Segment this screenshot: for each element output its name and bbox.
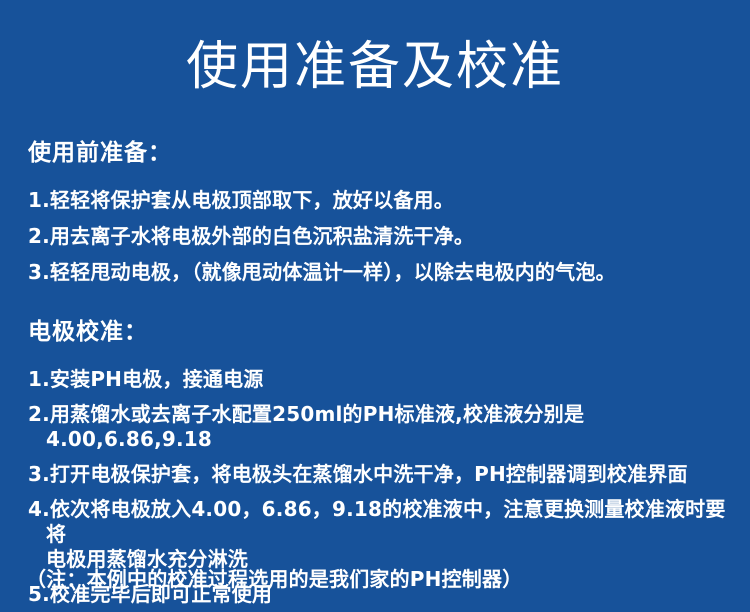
section-preparation: 使用前准备： 1.轻轻将保护套从电极顶部取下，放好以备用。 2.用去离子水将电极… xyxy=(28,138,728,296)
section-preparation-list: 1.轻轻将保护套从电极顶部取下，放好以备用。 2.用去离子水将电极外部的白色沉积… xyxy=(28,188,728,285)
list-item: 2.用蒸馏水或去离子水配置250ml的PH标准液,校准液分别是4.00,6.86… xyxy=(28,402,728,452)
list-item: 1.轻轻将保护套从电极顶部取下，放好以备用。 xyxy=(28,188,728,213)
section-calibration-heading: 电极校准： xyxy=(28,317,728,347)
list-item: 2.用去离子水将电极外部的白色沉积盐清洗干净。 xyxy=(28,224,728,249)
page-title: 使用准备及校准 xyxy=(0,36,750,98)
list-item: 4.依次将电极放入4.00，6.86，9.18的校准液中，注意更换测量校准液时要… xyxy=(28,497,728,572)
list-item: 3.轻轻甩动电极，（就像甩动体温计一样），以除去电极内的气泡。 xyxy=(28,260,728,285)
footnote: （注：本例中的校准过程选用的是我们家的PH控制器） xyxy=(26,566,522,592)
list-item: 3.打开电极保护套，将电极头在蒸馏水中洗干净，PH控制器调到校准界面 xyxy=(28,462,728,487)
section-preparation-heading: 使用前准备： xyxy=(28,138,728,168)
list-item: 1.安装PH电极，接通电源 xyxy=(28,367,728,392)
instruction-poster: 使用准备及校准 使用前准备： 1.轻轻将保护套从电极顶部取下，放好以备用。 2.… xyxy=(0,0,750,612)
